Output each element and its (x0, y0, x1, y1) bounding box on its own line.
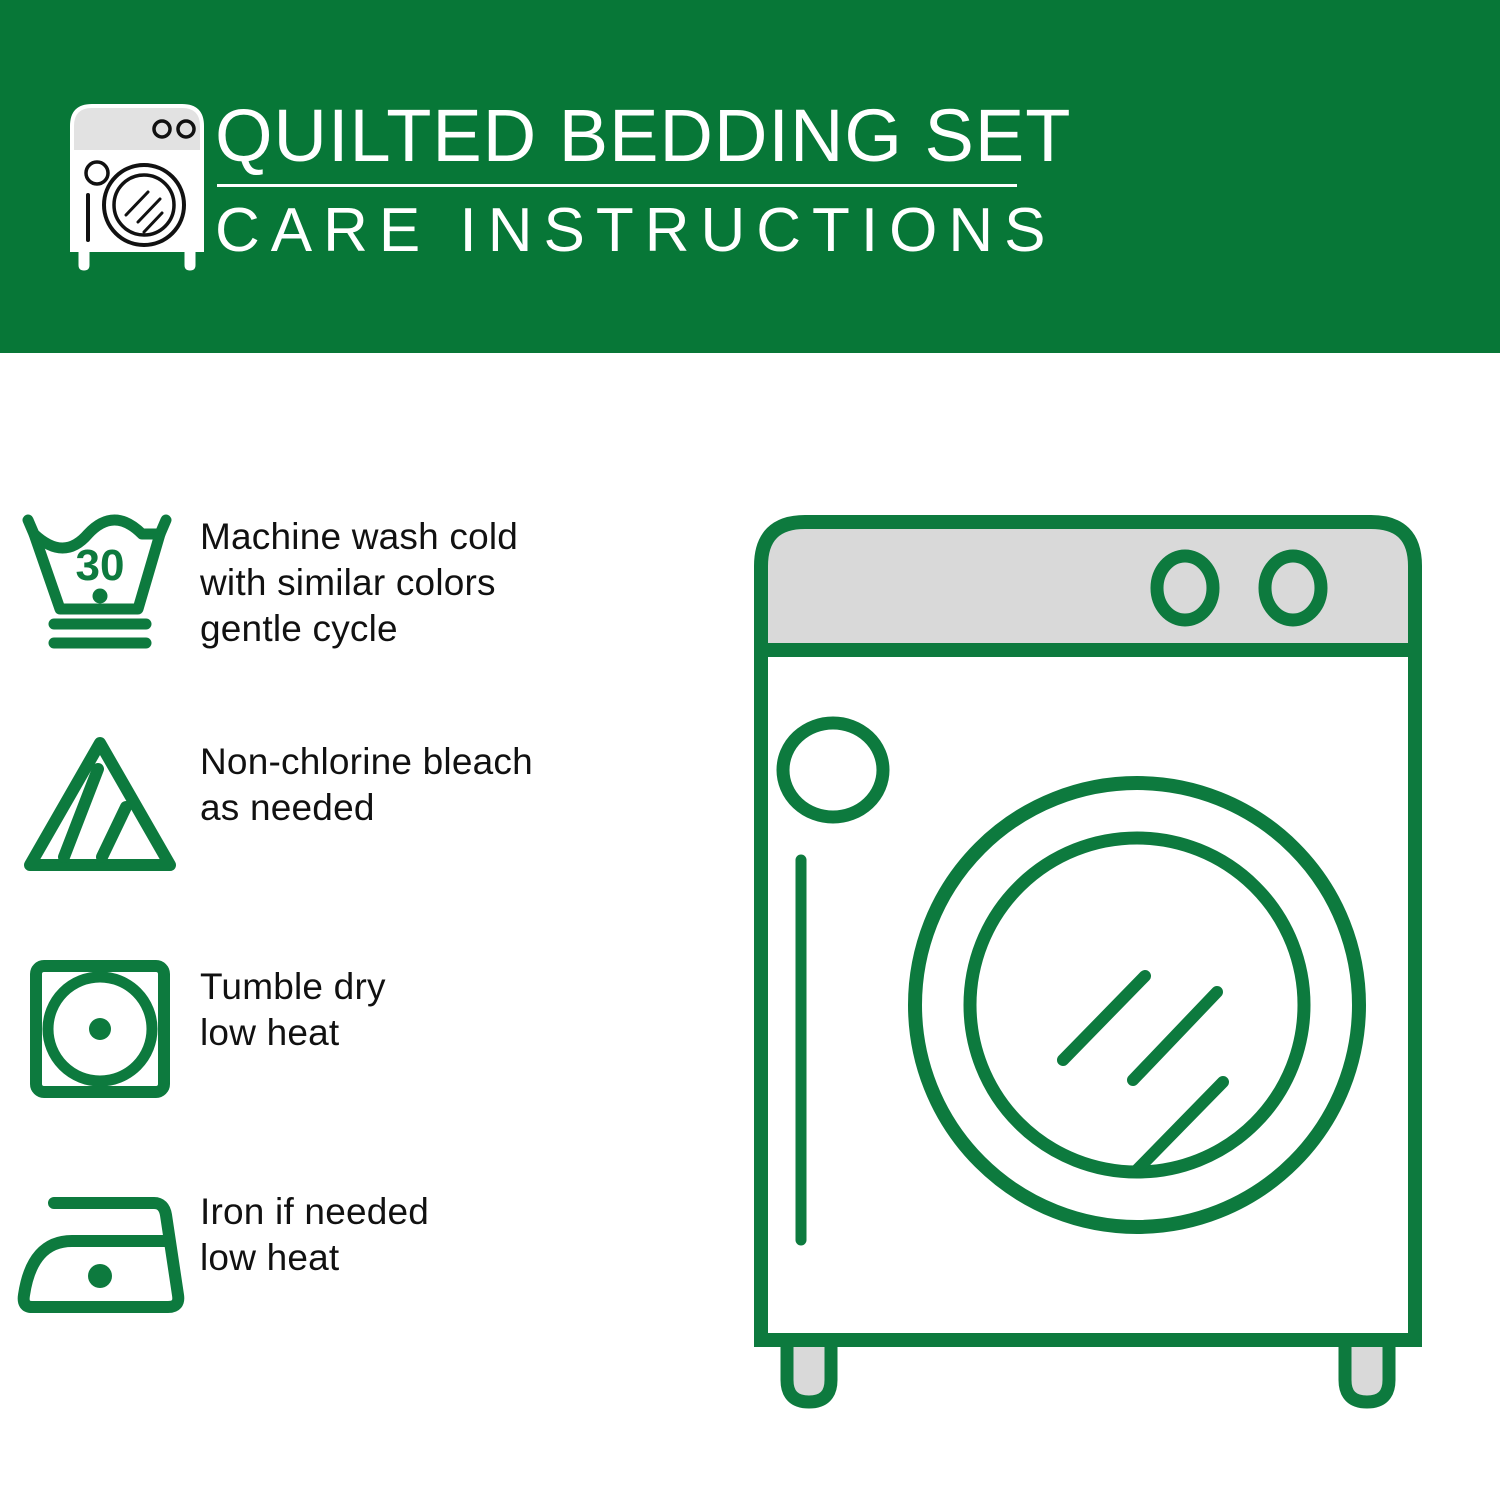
iron-low-heat-icon (0, 1165, 200, 1329)
care-line: low heat (200, 1235, 429, 1281)
care-text-iron: Iron if needed low heat (200, 1165, 429, 1281)
care-instruction-list: 30 Machine wash cold with similar colors… (0, 490, 720, 1390)
front-load-washing-machine-illustration (745, 500, 1455, 1440)
tumble-dry-low-icon (0, 940, 200, 1104)
care-row-bleach: Non-chlorine bleach as needed (0, 715, 720, 940)
wash-tub-30-gentle-icon: 30 (0, 490, 200, 654)
care-line: as needed (200, 785, 533, 831)
care-text-tumble-dry: Tumble dry low heat (200, 940, 386, 1056)
page-subtitle: CARE INSTRUCTIONS (215, 197, 1035, 265)
care-line: Tumble dry (200, 964, 386, 1010)
non-chlorine-bleach-triangle-icon (0, 715, 200, 879)
care-row-tumble-dry: Tumble dry low heat (0, 940, 720, 1165)
washing-machine-icon (62, 100, 212, 272)
title-divider (217, 184, 1017, 187)
care-row-machine-wash: 30 Machine wash cold with similar colors… (0, 490, 720, 715)
care-text-bleach: Non-chlorine bleach as needed (200, 715, 533, 831)
care-line: Iron if needed (200, 1189, 429, 1235)
page-title: QUILTED BEDDING SET (215, 96, 1035, 176)
header-banner: QUILTED BEDDING SET CARE INSTRUCTIONS (0, 0, 1500, 353)
care-row-iron: Iron if needed low heat (0, 1165, 720, 1390)
care-line: with similar colors (200, 560, 518, 606)
care-instructions-page: QUILTED BEDDING SET CARE INSTRUCTIONS 30 (0, 0, 1500, 1500)
care-line: Machine wash cold (200, 514, 518, 560)
care-text-machine-wash: Machine wash cold with similar colors ge… (200, 490, 518, 652)
care-line: gentle cycle (200, 606, 518, 652)
header-text-block: QUILTED BEDDING SET CARE INSTRUCTIONS (215, 96, 1035, 265)
svg-text:30: 30 (76, 541, 125, 590)
care-line: Non-chlorine bleach (200, 739, 533, 785)
care-line: low heat (200, 1010, 386, 1056)
